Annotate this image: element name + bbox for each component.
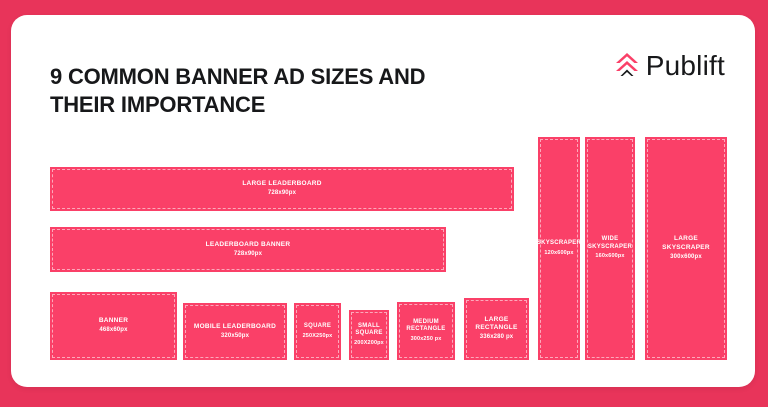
ad-label: SKYSCRAPER — [537, 240, 581, 248]
infographic-card: 9 Common Banner Ad Sizes and Their Impor… — [11, 15, 755, 387]
ad-dimensions: 336x280 px — [480, 334, 514, 342]
ad-label: LARGE LEADERBOARD — [242, 180, 321, 188]
ad-label: SQUARE — [304, 323, 331, 331]
infographic-canvas: 9 Common Banner Ad Sizes and Their Impor… — [0, 0, 768, 407]
ad-block-banner[interactable]: BANNER 468x60px — [50, 292, 177, 360]
ad-dimensions: 728x90px — [234, 251, 262, 259]
ad-block-skyscraper[interactable]: SKYSCRAPER 120x600px — [538, 137, 580, 360]
ad-label: MOBILE LEADERBOARD — [194, 323, 276, 331]
ad-dimensions: 320x50px — [221, 333, 249, 341]
ad-dimensions: 200X200px — [354, 340, 384, 347]
ad-block-large-skyscraper[interactable]: LARGE SKYSCRAPER 300x600px — [645, 137, 727, 360]
ad-label: LEADERBOARD BANNER — [206, 241, 291, 249]
ad-block-wide-skyscraper[interactable]: WIDE SKYSCRAPER 160x600px — [585, 137, 635, 360]
page-title-line-2: Their Importance — [50, 91, 520, 119]
brand-logo: Publift — [614, 51, 725, 79]
brand-name: Publift — [646, 52, 725, 80]
ad-label: LARGE RECTANGLE — [475, 316, 517, 332]
ad-dimensions: 160x600px — [595, 253, 624, 260]
ad-block-medium-rectangle[interactable]: MEDIUM RECTANGLE 300x250 px — [397, 302, 455, 360]
ad-block-large-leaderboard[interactable]: LARGE LEADERBOARD 728x90px — [50, 167, 514, 211]
ad-block-square[interactable]: SQUARE 250X250px — [294, 303, 341, 360]
ad-dimensions: 300x250 px — [411, 336, 442, 343]
ad-dimensions: 468x60px — [99, 327, 127, 335]
ad-block-mobile-leaderboard[interactable]: MOBILE LEADERBOARD 320x50px — [183, 303, 287, 360]
ad-dimensions: 120x600px — [544, 250, 573, 257]
ad-label: BANNER — [99, 317, 128, 325]
ad-label: SMALL SQUARE — [355, 323, 382, 338]
ad-label: MEDIUM RECTANGLE — [406, 319, 445, 334]
ad-label: WIDE SKYSCRAPER — [588, 236, 632, 251]
ad-label: LARGE SKYSCRAPER — [662, 235, 710, 251]
ad-block-large-rectangle[interactable]: LARGE RECTANGLE 336x280 px — [464, 298, 529, 360]
ad-dimensions: 300x600px — [670, 254, 702, 262]
ad-dimensions: 728x90px — [268, 190, 296, 198]
ad-block-small-square[interactable]: SMALL SQUARE 200X200px — [349, 310, 389, 360]
ad-block-leaderboard-banner[interactable]: LEADERBOARD BANNER 728x90px — [50, 227, 446, 272]
page-title-line-1: 9 Common Banner Ad Sizes and — [50, 63, 520, 91]
page-title: 9 Common Banner Ad Sizes and Their Impor… — [50, 63, 520, 119]
ad-dimensions: 250X250px — [303, 333, 333, 340]
chevron-stack-icon — [614, 51, 640, 79]
